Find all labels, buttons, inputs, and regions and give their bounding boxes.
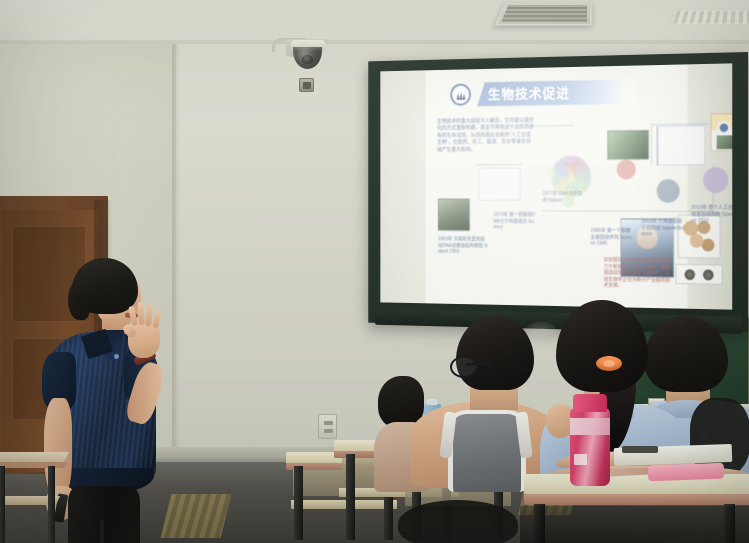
hair (72, 258, 138, 314)
projection-screen: 生物技术促进 生物技术的重大成就令人瞩目，它可能以最优化的方式重新构建，甚至不再… (368, 52, 748, 332)
black-trousers (68, 486, 140, 543)
podium-leg (0, 466, 5, 543)
hair (556, 300, 648, 392)
connector-line (651, 124, 652, 165)
slide-body-text: 生物技术的重大成就令人瞩目，它可能以最优化的方式重新构建，甚至不再拘泥于自然界原… (437, 118, 534, 154)
foreground-silhouette (398, 500, 518, 543)
microscope-photo (438, 199, 470, 231)
notebook-clip (622, 446, 658, 453)
podium-leg (48, 466, 55, 543)
green-flask-photo (607, 130, 649, 160)
timeline-caption: 1977年 DNA测序技术 Nature (542, 191, 583, 204)
desk-edge (524, 494, 749, 505)
timeline-caption: 1972年 第一例重组DNA分子构建成功 Science (493, 212, 537, 231)
bottle-label (574, 454, 587, 465)
collar-button (114, 354, 119, 359)
timeline-marker (617, 160, 636, 180)
bottle-band (570, 418, 610, 435)
timeline-caption: 2003年 人类基因组计划完成 Nature/Science (641, 218, 685, 238)
slide-title: 生物技术促进 (488, 82, 664, 105)
chip-inset-photo (717, 135, 733, 149)
desk-leg (346, 454, 355, 540)
tank-top-trim (448, 410, 526, 492)
camera-lens-icon (302, 55, 313, 64)
trouser-seam (100, 520, 104, 543)
pink-water-bottle[interactable] (570, 392, 610, 486)
screen-margin (380, 70, 425, 303)
laboratory-diagram (479, 168, 521, 201)
orange-hair-tie (596, 356, 622, 371)
foreground-shadow (520, 506, 749, 543)
gene-chip-illustration (711, 113, 733, 151)
desk-leg (294, 466, 303, 540)
timeline-marker (545, 168, 555, 179)
petri-dish-photo (676, 264, 723, 285)
light-grid (673, 11, 749, 23)
vent-slats (502, 5, 588, 22)
finger (152, 310, 162, 329)
institution-logo-icon (450, 84, 470, 106)
hair (456, 316, 534, 390)
wall-power-outlet (318, 414, 337, 439)
air-vent-icon (495, 2, 592, 26)
teacher-podium (0, 452, 66, 543)
recessed-panel-light (669, 9, 749, 25)
connector-line (542, 210, 712, 212)
classroom-photo: 生物技术促进 生物技术的重大成就令人瞩目，它可能以最优化的方式重新构建，甚至不再… (0, 0, 749, 543)
eyeglasses-icon (450, 356, 478, 378)
document-diagram (657, 126, 705, 166)
screen-surface: 生物技术促进 生物技术的重大成就令人瞩目，它可能以最优化的方式重新构建，甚至不再… (380, 63, 732, 309)
finger (137, 302, 145, 325)
timeline-caption: 1953年 沃森和克里克提出DNA双螺旋结构模型 Nature 1953 (438, 236, 488, 255)
timeline-marker (703, 167, 728, 193)
pink-pencil-case[interactable] (648, 463, 725, 482)
presentation-slide: 生物技术促进 生物技术的重大成就令人瞩目，它可能以最优化的方式重新构建，甚至不再… (426, 64, 688, 308)
connector-line (531, 125, 573, 126)
connector-line (475, 164, 522, 165)
timeline-caption: 1995年 第一个细菌全基因组序列 Science 1995 (591, 228, 632, 248)
bottle-cap[interactable] (573, 394, 607, 412)
slide-right-note: 目前国际上合成生物学研究的能力不断提升，设计、重构、编辑基因组的能力正在飞速提升… (604, 257, 672, 290)
podium-edge (0, 462, 67, 468)
timeline-marker (657, 179, 680, 203)
timeline-caption: 2010年 首个人工合成基因组细胞 Science 2010 (691, 205, 732, 225)
wall-plate (299, 78, 314, 92)
